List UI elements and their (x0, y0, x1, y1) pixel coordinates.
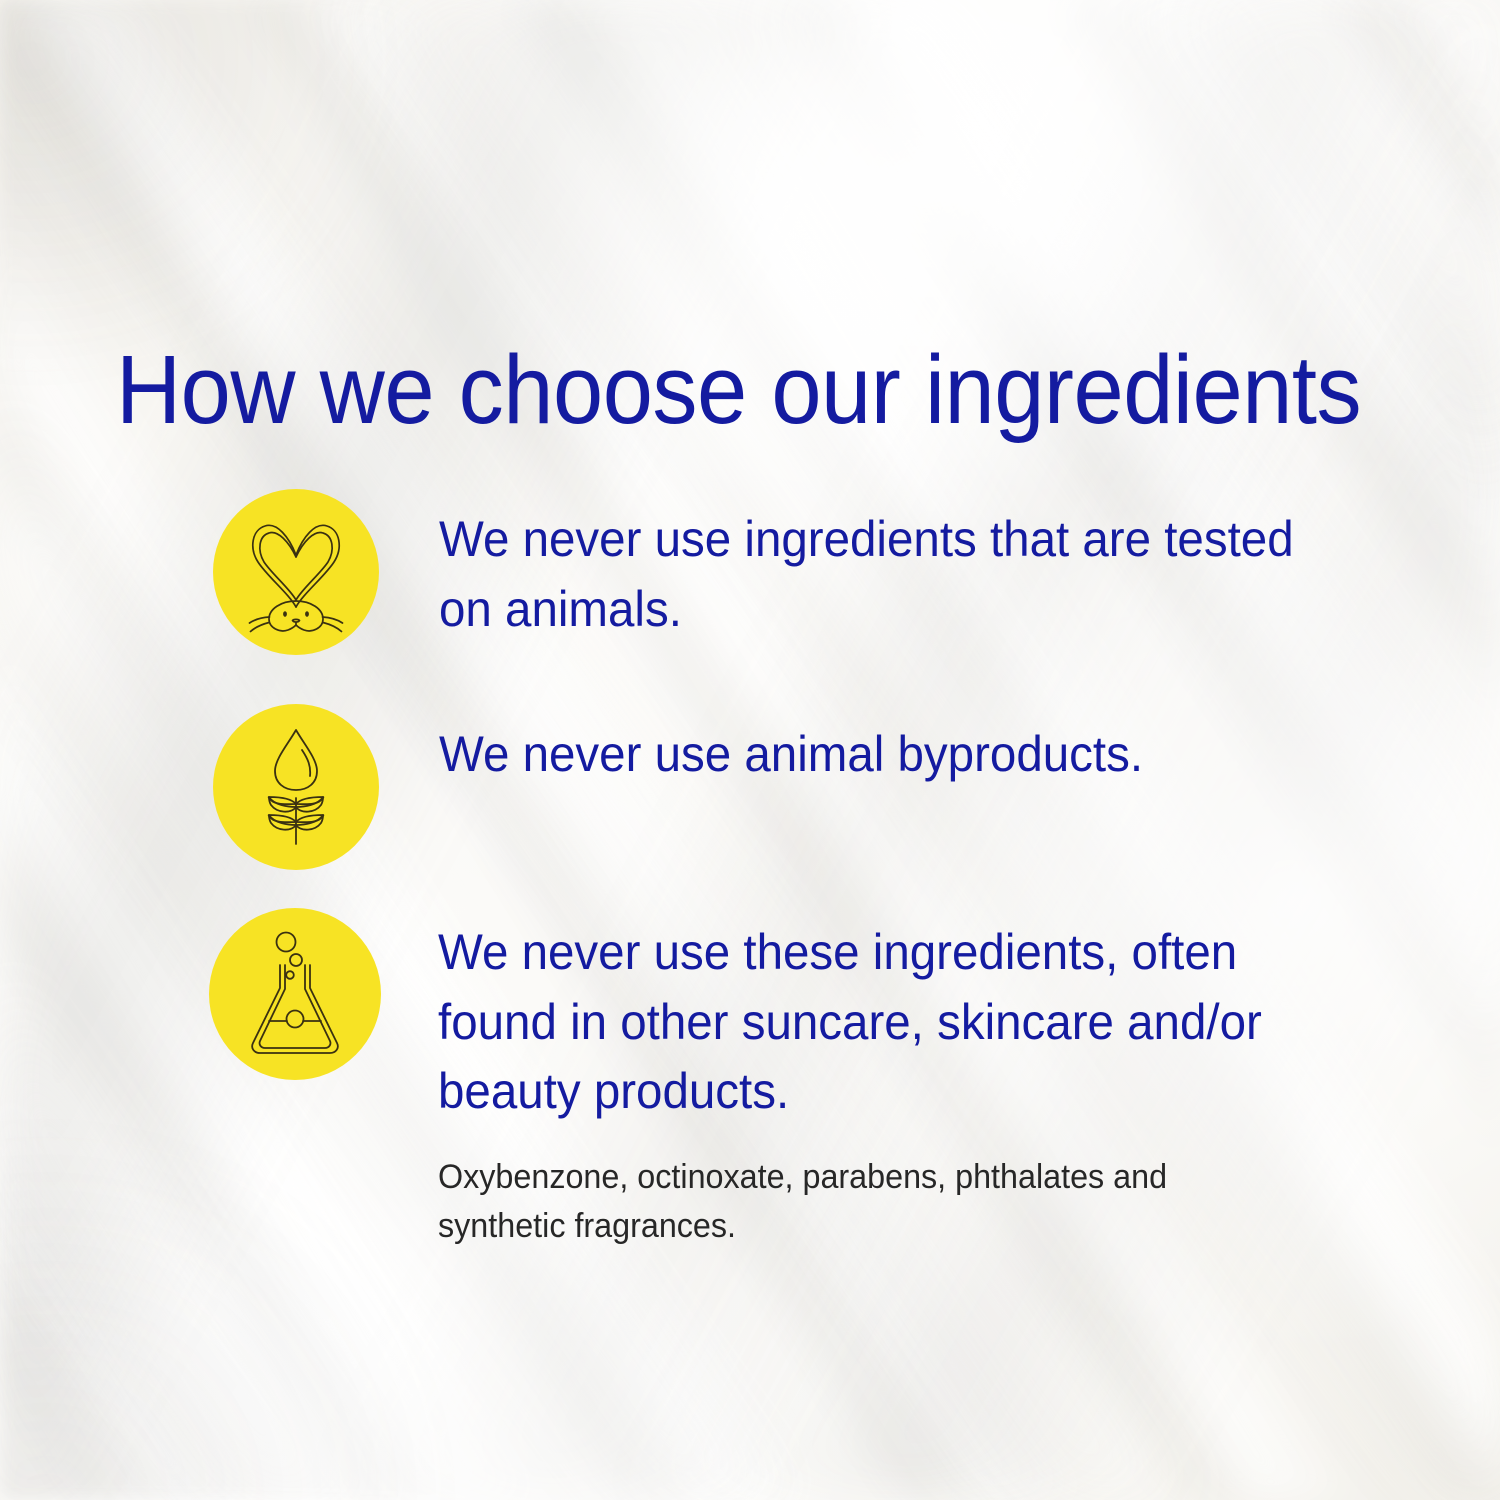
promise-statement: We never use ingredients that are tested… (439, 505, 1332, 644)
droplet-plant-icon (248, 726, 344, 848)
promise-statement: We never use these ingredients, often fo… (438, 918, 1331, 1127)
content-area: How we choose our ingredients (0, 0, 1500, 1500)
promise-fineprint: Oxybenzone, octinoxate, parabens, phthal… (438, 1153, 1293, 1253)
ingredients-promise-panel: How we choose our ingredients (0, 0, 1500, 1500)
item-text-block: We never use animal byproducts. (439, 704, 1180, 790)
bunny-heart-ears-icon (241, 510, 351, 634)
icon-badge (213, 704, 379, 870)
icon-badge (213, 489, 379, 655)
list-item: We never use these ingredients, often fo… (209, 908, 1378, 1252)
list-item: We never use animal byproducts. (213, 704, 1180, 870)
icon-badge (209, 908, 381, 1080)
promise-statement: We never use animal byproducts. (439, 720, 1143, 790)
page-title: How we choose our ingredients (116, 341, 1361, 438)
item-text-block: We never use these ingredients, often fo… (438, 908, 1378, 1252)
item-text-block: We never use ingredients that are tested… (439, 489, 1379, 644)
chemistry-flask-icon (247, 931, 343, 1057)
list-item: We never use ingredients that are tested… (213, 489, 1379, 655)
